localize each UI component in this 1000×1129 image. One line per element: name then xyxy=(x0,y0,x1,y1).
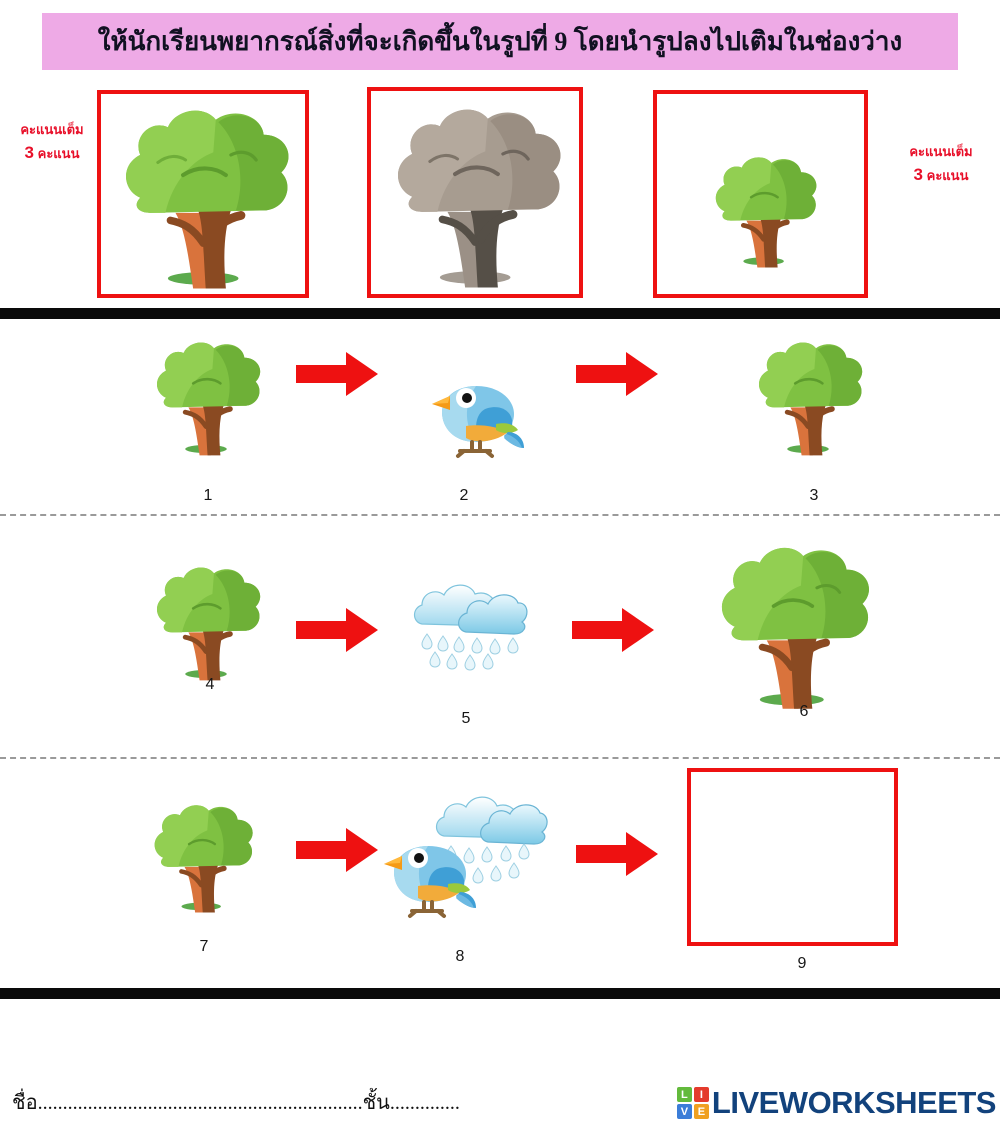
sequence-number-9: 9 xyxy=(782,955,822,973)
divider-bar-top xyxy=(0,308,1000,319)
right-arrow-icon xyxy=(296,352,378,396)
logo-tile-e: E xyxy=(694,1104,709,1119)
sequence-number-4: 4 xyxy=(190,676,230,694)
sequence-number-7: 7 xyxy=(184,938,224,956)
liveworksheets-logo[interactable]: L I V E LIVEWORKSHEETS xyxy=(677,1085,996,1121)
rain-cloud-icon xyxy=(410,580,530,680)
score-label-left-value: 3 คะแนน xyxy=(4,140,100,166)
right-arrow-icon xyxy=(296,608,378,652)
row-divider-2 xyxy=(0,757,1000,759)
sequence-item-2 xyxy=(418,352,526,456)
right-arrow-icon xyxy=(576,832,658,876)
class-field-label[interactable]: ชั้น.............. xyxy=(363,1092,460,1114)
reference-box-1 xyxy=(97,90,309,298)
sequence-item-5 xyxy=(410,580,530,680)
sequence-item-8 xyxy=(370,790,550,930)
divider-bar-bottom xyxy=(0,988,1000,999)
name-field-label[interactable]: ชื่อ....................................… xyxy=(12,1092,363,1114)
score-label-right-value: 3 คะแนน xyxy=(886,162,996,188)
green-tree-icon xyxy=(752,337,876,459)
right-arrow-icon xyxy=(572,608,654,652)
answer-box-9[interactable] xyxy=(687,768,898,946)
score-label-right-title: คะแนนเต็ม xyxy=(886,142,996,162)
green-tree-icon xyxy=(101,94,305,294)
reference-box-3 xyxy=(653,90,868,298)
green-tree-icon xyxy=(150,562,274,684)
instruction-band: ให้นักเรียนพยากรณ์สิ่งที่จะเกิดขึ้นในรูป… xyxy=(42,13,958,70)
dead-gray-tree-icon xyxy=(371,91,579,294)
blue-bird-and-rain-cloud-icon xyxy=(370,790,550,930)
green-tree-icon xyxy=(712,540,890,714)
footer-fields: ชื่อ....................................… xyxy=(12,1086,672,1118)
sequence-item-6 xyxy=(712,540,890,714)
logo-tile-l: L xyxy=(677,1087,692,1102)
score-label-left: คะแนนเต็ม 3 คะแนน xyxy=(4,120,100,166)
row-divider-1 xyxy=(0,514,1000,516)
logo-wordmark: LIVEWORKSHEETS xyxy=(712,1085,996,1121)
instruction-text: ให้นักเรียนพยากรณ์สิ่งที่จะเกิดขึ้นในรูป… xyxy=(98,21,902,62)
blue-bird-icon xyxy=(418,352,526,456)
sequence-item-4 xyxy=(150,562,274,684)
sequence-number-2: 2 xyxy=(444,487,484,505)
green-tree-icon xyxy=(150,337,274,459)
reference-box-2 xyxy=(367,87,583,298)
score-label-right: คะแนนเต็ม 3 คะแนน xyxy=(886,142,996,188)
sequence-number-6: 6 xyxy=(784,703,824,721)
green-tree-icon xyxy=(657,94,864,270)
sequence-number-8: 8 xyxy=(440,948,480,966)
green-tree-icon xyxy=(148,800,266,916)
right-arrow-icon xyxy=(576,352,658,396)
sequence-item-7 xyxy=(148,800,266,916)
sequence-number-3: 3 xyxy=(794,487,834,505)
sequence-item-1 xyxy=(150,337,274,459)
sequence-item-3 xyxy=(752,337,876,459)
logo-tiles: L I V E xyxy=(677,1087,709,1119)
worksheet-page: ให้นักเรียนพยากรณ์สิ่งที่จะเกิดขึ้นในรูป… xyxy=(0,0,1000,1129)
logo-tile-v: V xyxy=(677,1104,692,1119)
sequence-number-5: 5 xyxy=(446,710,486,728)
logo-tile-i: I xyxy=(694,1087,709,1102)
right-arrow-icon xyxy=(296,828,378,872)
score-label-left-title: คะแนนเต็ม xyxy=(4,120,100,140)
sequence-number-1: 1 xyxy=(188,487,228,505)
